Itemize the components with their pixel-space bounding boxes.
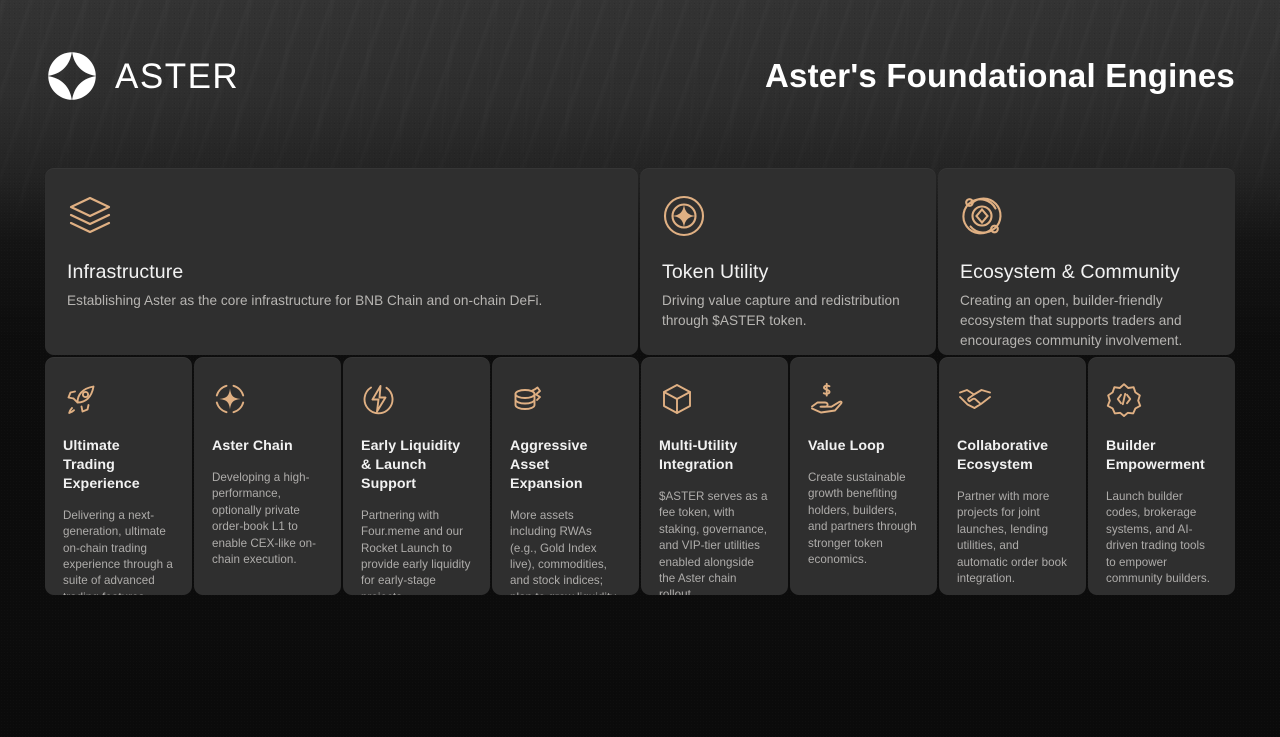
hand-dollar-icon	[808, 381, 919, 421]
pillar-title: Infrastructure	[67, 260, 616, 284]
slide-canvas: ASTER Aster's Foundational Engines Infra…	[0, 0, 1280, 737]
initiative-card-early-liquidity-launch-support[interactable]: Early Liquidity & Launch Support Partner…	[343, 357, 490, 595]
layers-stack-icon	[67, 194, 616, 240]
initiative-description: Delivering a next-generation, ultimate o…	[63, 508, 174, 595]
initiative-card-ultimate-trading-experience[interactable]: Ultimate Trading Experience Delivering a…	[45, 357, 192, 595]
initiative-description: More assets including RWAs (e.g., Gold I…	[510, 508, 621, 595]
initiative-description: Partnering with Four.meme and our Rocket…	[361, 508, 472, 595]
initiative-title: Aster Chain	[212, 437, 323, 456]
initiative-card-collaborative-ecosystem[interactable]: Collaborative Ecosystem Partner with mor…	[939, 357, 1086, 595]
initiative-card-builder-empowerment[interactable]: Builder Empowerment Launch builder codes…	[1088, 357, 1235, 595]
aster-star-circle-logo-icon	[45, 49, 99, 103]
initiative-title: Early Liquidity & Launch Support	[361, 437, 472, 494]
token-coin-star-icon	[662, 194, 914, 240]
initiative-card-aster-chain[interactable]: Aster Chain Developing a high-performanc…	[194, 357, 341, 595]
brand-lockup[interactable]: ASTER	[45, 49, 239, 103]
pillar-title: Ecosystem & Community	[960, 260, 1213, 284]
brand-name: ASTER	[115, 59, 239, 94]
pillar-title: Token Utility	[662, 260, 914, 284]
pillar-card-ecosystem-community[interactable]: Ecosystem & Community Creating an open, …	[938, 168, 1235, 355]
initiative-title: Value Loop	[808, 437, 919, 456]
pillar-description: Driving value capture and redistribution…	[662, 291, 914, 331]
initiative-card-aggressive-asset-expansion[interactable]: Aggressive Asset Expansion More assets i…	[492, 357, 639, 595]
cube-icon	[659, 381, 770, 421]
rocket-icon	[63, 381, 174, 421]
pillar-card-token-utility[interactable]: Token Utility Driving value capture and …	[640, 168, 936, 355]
initiative-title: Aggressive Asset Expansion	[510, 437, 621, 494]
pillar-card-infrastructure[interactable]: Infrastructure Establishing Aster as the…	[45, 168, 638, 355]
initiative-title: Ultimate Trading Experience	[63, 437, 174, 494]
initiative-description: Create sustainable growth benefiting hol…	[808, 470, 919, 569]
slide-header: ASTER Aster's Foundational Engines	[45, 46, 1235, 106]
pillars-row: Infrastructure Establishing Aster as the…	[45, 168, 1235, 355]
initiative-title: Collaborative Ecosystem	[957, 437, 1068, 475]
initiative-description: $ASTER serves as a fee token, with staki…	[659, 489, 770, 595]
initiative-description: Partner with more projects for joint lau…	[957, 489, 1068, 588]
initiative-title: Builder Empowerment	[1106, 437, 1217, 475]
initiative-card-value-loop[interactable]: Value Loop Create sustainable growth ben…	[790, 357, 937, 595]
page-title: Aster's Foundational Engines	[765, 57, 1235, 95]
pillar-description: Establishing Aster as the core infrastru…	[67, 291, 616, 311]
orbit-network-icon	[960, 194, 1213, 240]
aster-chain-star-icon	[212, 381, 323, 421]
initiative-title: Multi-Utility Integration	[659, 437, 770, 475]
pillar-description: Creating an open, builder-friendly ecosy…	[960, 291, 1213, 351]
initiatives-row: Ultimate Trading Experience Delivering a…	[45, 357, 1235, 595]
lightning-bolt-circle-icon	[361, 381, 472, 421]
handshake-icon	[957, 381, 1068, 421]
gear-code-icon	[1106, 381, 1217, 421]
initiative-description: Developing a high-performance, optionall…	[212, 470, 323, 569]
coin-stack-icon	[510, 381, 621, 421]
initiative-card-multi-utility-integration[interactable]: Multi-Utility Integration $ASTER serves …	[641, 357, 788, 595]
initiative-description: Launch builder codes, brokerage systems,…	[1106, 489, 1217, 588]
